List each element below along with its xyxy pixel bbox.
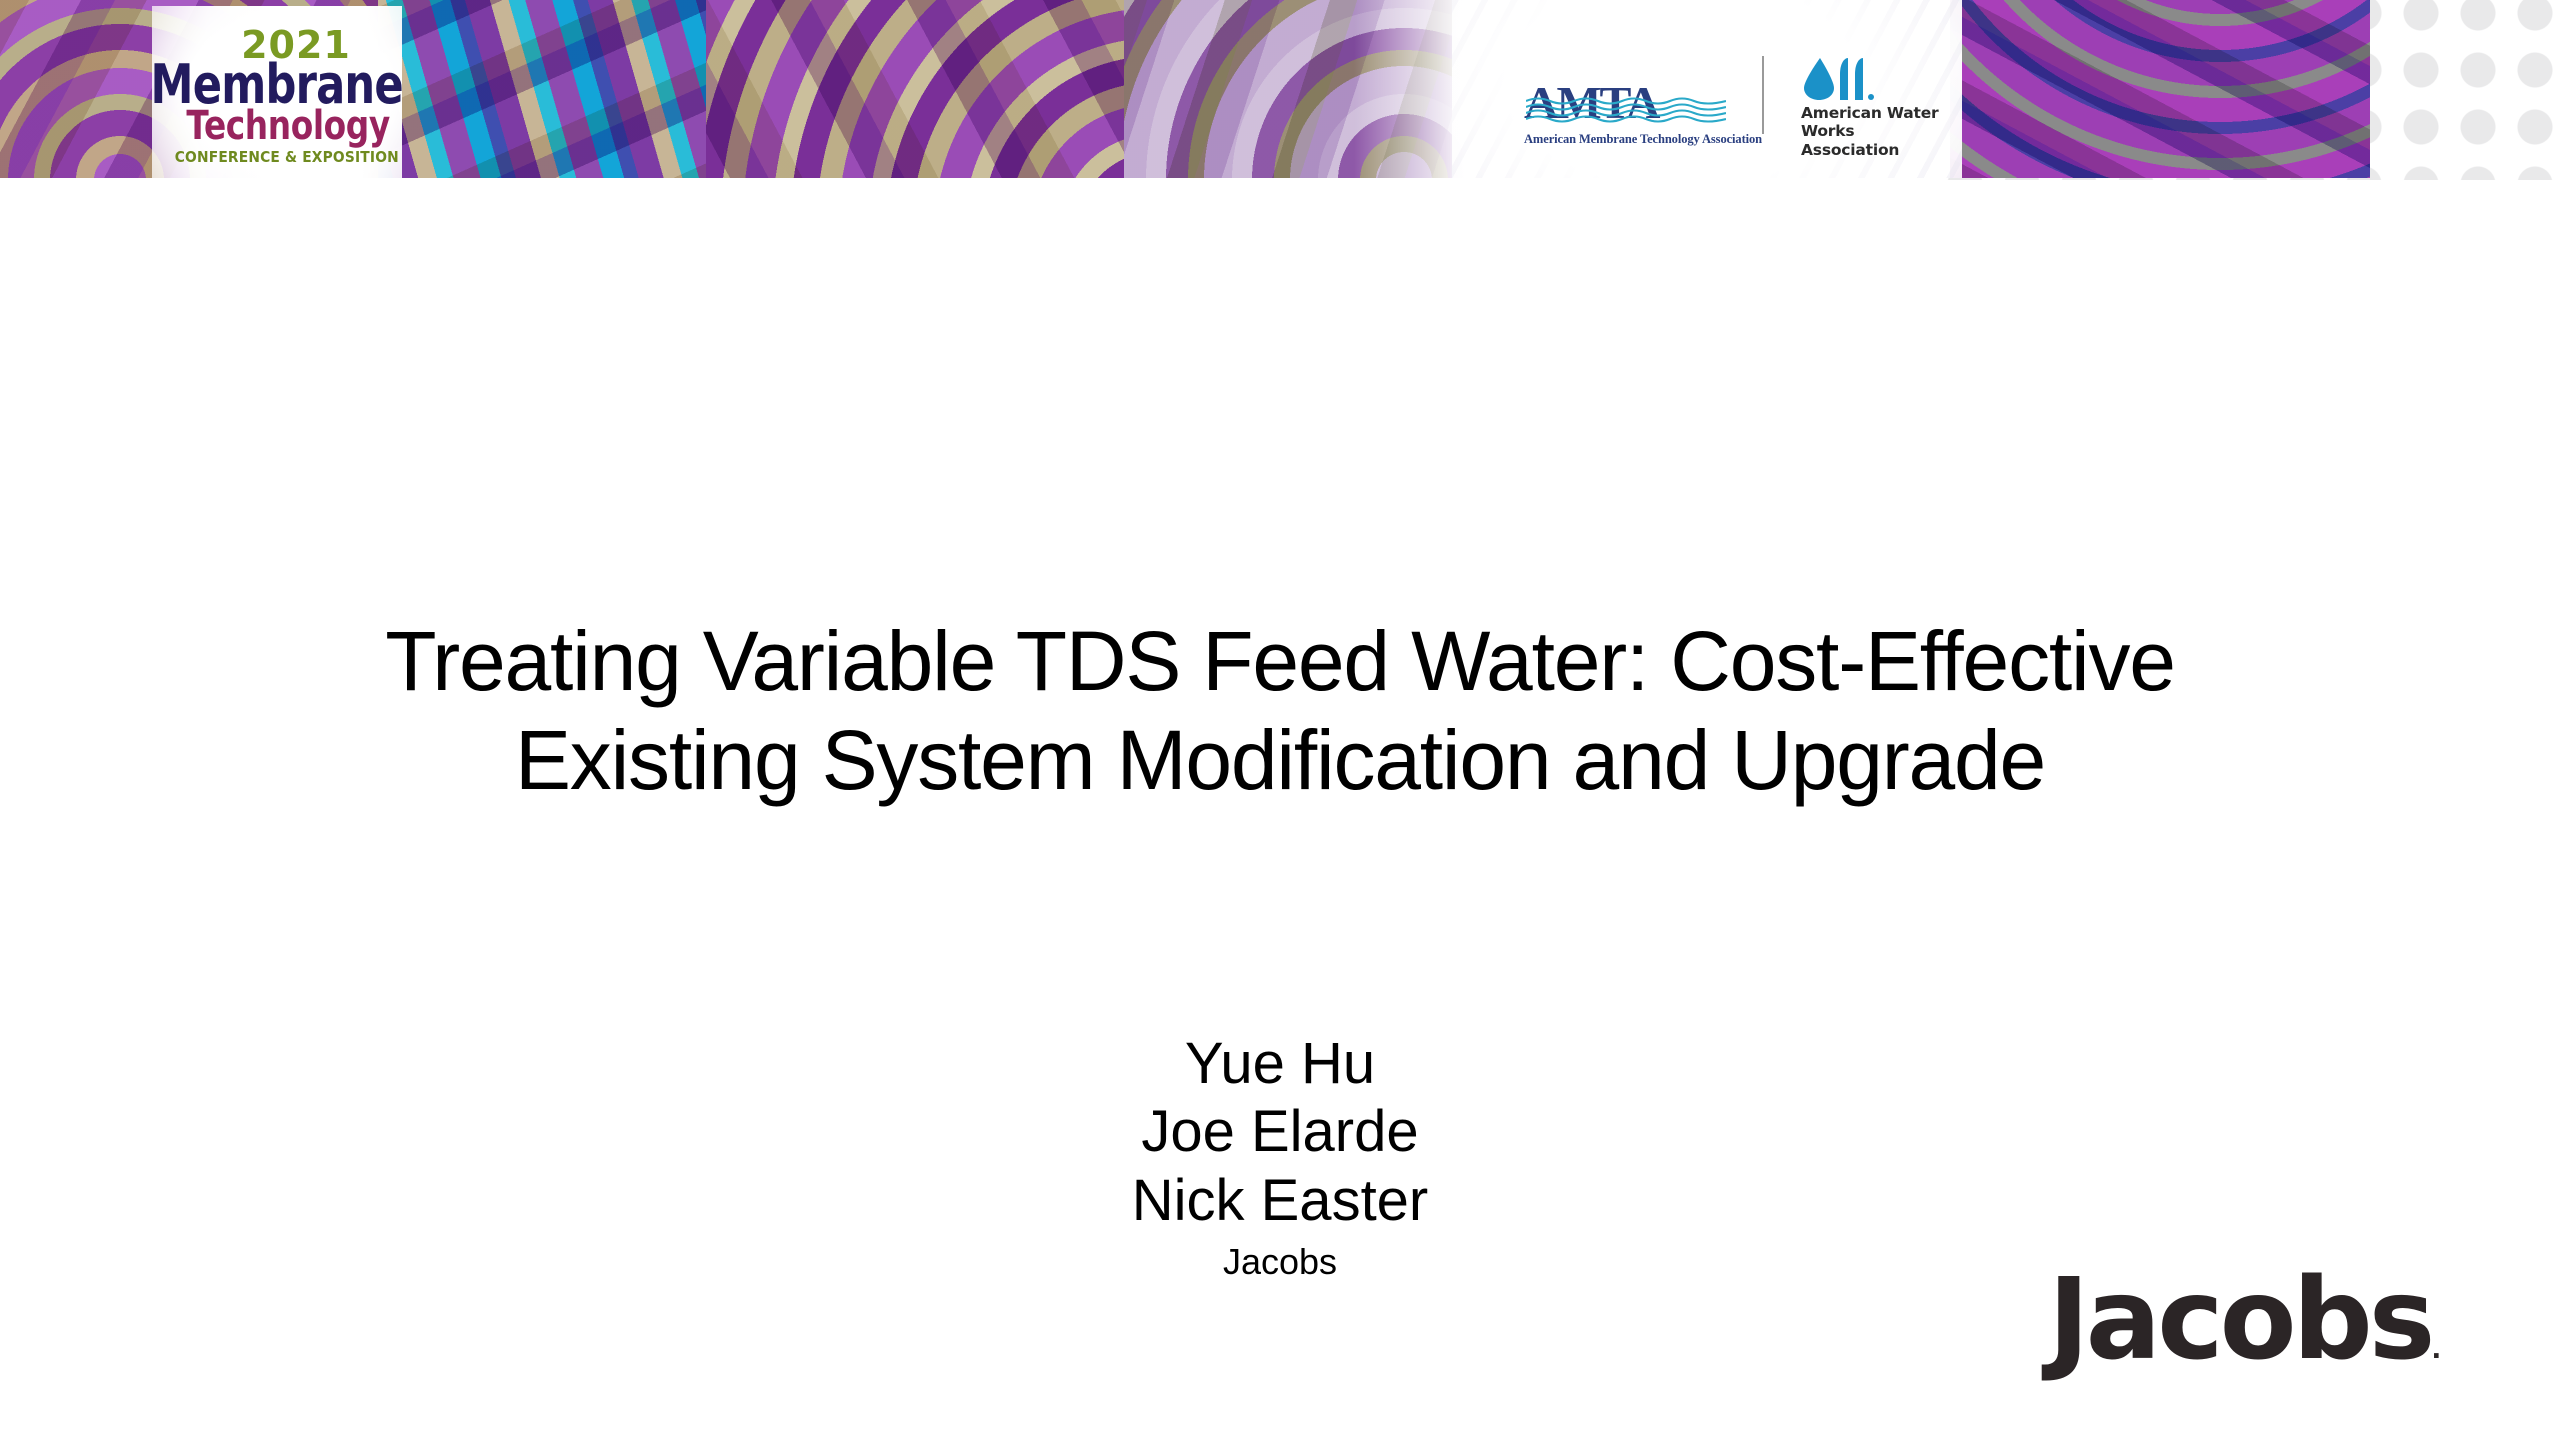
banner-graphic-plaid-cyan	[378, 0, 708, 178]
banner-graphic-right-sphere	[1950, 0, 2370, 178]
plaid-weave-weft	[378, 0, 708, 178]
presentation-slide: 2021 Membrane Technology CONFERENCE & EX…	[0, 0, 2560, 1440]
amta-logo: AMTA American Membrane Technology Associ…	[1524, 80, 1736, 152]
awwa-name: American Water Works Association	[1801, 104, 1970, 159]
author-affiliation: Jacobs	[780, 1239, 1780, 1286]
author-name-3: Nick Easter	[780, 1167, 1780, 1235]
amta-tagline: American Membrane Technology Association	[1524, 132, 1762, 147]
author-name-2: Joe Elarde	[780, 1098, 1780, 1166]
sphere-crosshatch-decoration	[1950, 0, 2370, 178]
jacobs-wordmark: Jacobs	[2048, 1255, 2431, 1385]
jacobs-trademark-symbol: .	[2431, 1335, 2441, 1365]
banner-graphic-purple-tan-sweep	[706, 0, 1126, 178]
banner-graphic-lavender-sage	[1124, 0, 1484, 178]
awwa-logo: American Water Works Association	[1800, 56, 1970, 142]
membrane-technology-conference-logo: 2021 Membrane Technology CONFERENCE & EX…	[152, 6, 402, 178]
author-block: Yue Hu Joe Elarde Nick Easter Jacobs	[780, 1030, 1780, 1286]
author-name-1: Yue Hu	[780, 1030, 1780, 1098]
jacobs-company-logo: Jacobs.	[2048, 1264, 2441, 1376]
conference-logo-technology: Technology	[186, 107, 389, 145]
conference-logo-subtitle: CONFERENCE & EXPOSITION	[175, 148, 399, 166]
awwa-water-drop-icon	[1800, 56, 1878, 102]
slide-title: Treating Variable TDS Feed Water: Cost-E…	[260, 612, 2300, 810]
conference-logo-membrane: Membrane	[151, 60, 403, 110]
logo-divider	[1762, 56, 1764, 134]
amta-wordmark: AMTA	[1524, 80, 1658, 126]
sweep-crosshatch-decoration	[706, 0, 1126, 178]
